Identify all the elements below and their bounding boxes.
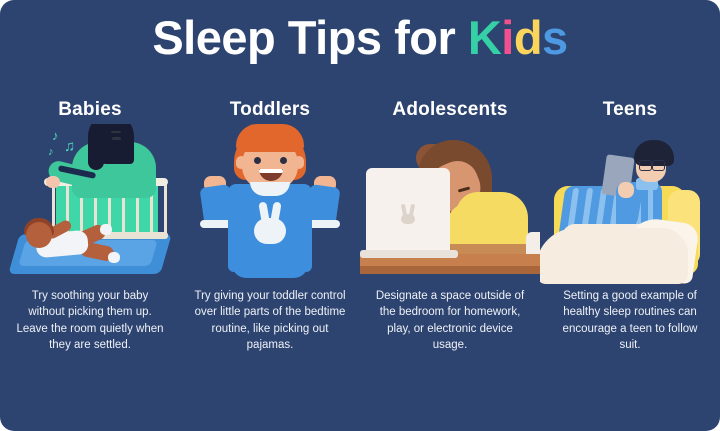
baby-head-shape bbox=[26, 222, 52, 248]
column-heading-teens: Teens bbox=[540, 96, 720, 124]
laptop-base-shape bbox=[360, 250, 458, 258]
illustration-toddlers bbox=[180, 124, 360, 284]
tips-columns: Babies bbox=[0, 96, 720, 431]
illustration-babies: ♪ ♫ ♪ bbox=[0, 124, 180, 284]
page-title-prefix: Sleep Tips for bbox=[152, 11, 468, 64]
column-heading-babies: Babies bbox=[0, 96, 180, 124]
pajama-hem-shape bbox=[232, 264, 308, 278]
illustration-adolescents bbox=[360, 124, 540, 284]
column-heading-adolescents: Adolescents bbox=[360, 96, 540, 124]
glasses-lens-shape bbox=[652, 160, 665, 171]
baby-sock-shape bbox=[108, 252, 120, 263]
baby-sock-shape bbox=[100, 224, 112, 235]
laptop-logo-shape bbox=[401, 214, 415, 224]
desk-edge-shape bbox=[360, 266, 540, 274]
toddler-eye-shape bbox=[280, 157, 287, 164]
crib-bar-shape bbox=[164, 184, 167, 238]
column-caption-babies: Try soothing your baby without picking t… bbox=[0, 288, 180, 353]
column-caption-toddlers: Try giving your toddler control over lit… bbox=[180, 288, 360, 353]
tip-column-teens: Teens bbox=[540, 96, 720, 431]
sleep-tips-infographic: Sleep Tips for Kids Babies bbox=[0, 0, 720, 431]
tip-column-toddlers: Toddlers bbox=[180, 96, 360, 431]
tip-column-adolescents: Adolescents Design bbox=[360, 96, 540, 431]
parent-eyebrow-shape bbox=[111, 131, 121, 133]
pajama-cuff-shape bbox=[308, 220, 340, 228]
toddler-hair-top-shape bbox=[236, 124, 304, 152]
music-note-icon: ♪ bbox=[52, 128, 59, 143]
teen-hand-shape bbox=[618, 182, 634, 198]
music-note-icon: ♫ bbox=[64, 138, 75, 155]
parent-hand-shape bbox=[46, 176, 60, 188]
page-title: Sleep Tips for Kids bbox=[0, 10, 720, 65]
music-note-icon: ♪ bbox=[48, 146, 54, 158]
parent-hair-strand-shape bbox=[88, 132, 104, 170]
illustration-teens bbox=[540, 124, 720, 284]
glasses-lens-shape bbox=[639, 160, 652, 171]
page-title-letter-s: s bbox=[542, 11, 568, 64]
page-title-letter-k: K bbox=[468, 11, 501, 64]
page-title-letter-d: d bbox=[514, 11, 542, 64]
tip-column-babies: Babies bbox=[0, 96, 180, 431]
laptop-screen-shape bbox=[366, 168, 450, 256]
column-caption-teens: Setting a good example of healthy sleep … bbox=[540, 288, 720, 353]
blanket-shape bbox=[540, 228, 688, 284]
column-heading-toddlers: Toddlers bbox=[180, 96, 360, 124]
column-caption-adolescents: Designate a space outside of the bedroom… bbox=[360, 288, 540, 353]
page-title-letter-i: i bbox=[501, 11, 514, 64]
toddler-eye-shape bbox=[254, 157, 261, 164]
bunny-graphic-shape bbox=[254, 218, 286, 244]
parent-eye-shape bbox=[112, 137, 121, 140]
toddler-teeth-shape bbox=[259, 169, 283, 173]
